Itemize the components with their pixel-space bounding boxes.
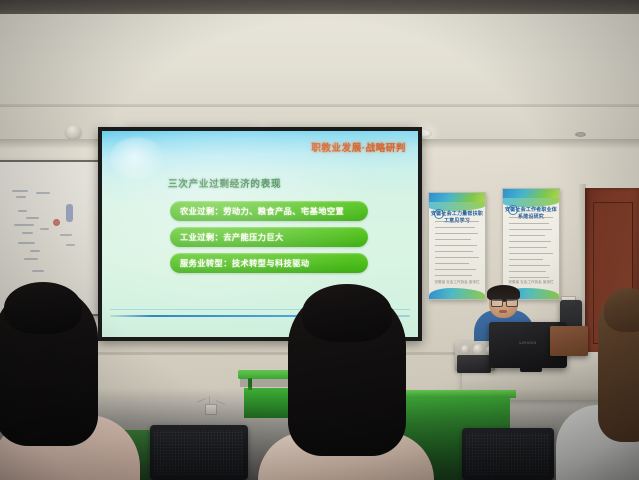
- wall-poster-right: 安徽社会工作者职业体系建设研究 安徽省 社会工作协会 宣传栏: [502, 188, 560, 300]
- equipment-knob[interactable]: [461, 345, 470, 354]
- slide-bullet-box: 工业过剩：去产能压力巨大: [170, 227, 368, 247]
- poster-footer: 安徽省 社会工作协会 宣传栏: [503, 280, 559, 285]
- smoke-detector-icon: [66, 125, 81, 139]
- wall-poster-left: 安徽社会工力量帮扶职工意见学习 安徽省 社会工作协会 宣传栏: [428, 192, 486, 300]
- slide-bullet-text: 工业过剩：去产能压力巨大: [180, 231, 284, 243]
- audience-left-head: [4, 282, 82, 334]
- slide-bullet-box: 服务业转型：技术转型与科技驱动: [170, 253, 368, 273]
- monitor-stand: [520, 366, 542, 372]
- photo-scene: 职教业发展·战略研判 三次产业过剩经济的表现 农业过剩：劳动力、粮食产品、宅基地…: [0, 0, 639, 480]
- audience-center-head: [302, 284, 392, 342]
- glasses-bridge: [502, 301, 506, 302]
- ceiling-panel: [0, 14, 639, 106]
- ceiling-beam: [0, 0, 639, 15]
- slide-watermark: [110, 137, 164, 179]
- side-cabinet: [550, 326, 588, 356]
- slide-title: 职教业发展·战略研判: [311, 140, 406, 154]
- monitor-brand-label: Lenovo: [519, 340, 536, 345]
- ceiling-vent-icon: [575, 132, 586, 137]
- presenter-mouth: [499, 310, 507, 313]
- slide-heading: 三次产业过剩经济的表现: [168, 176, 281, 190]
- poster-footer-band: [429, 288, 485, 299]
- glasses-icon: [506, 299, 518, 307]
- poster-footer: 安徽省 社会工作协会 宣传栏: [429, 280, 485, 285]
- audience-right-head: [604, 288, 639, 332]
- equipment-knob[interactable]: [473, 344, 484, 355]
- av-equipment-panel: [457, 355, 491, 373]
- slide-bullet-box: 农业过剩：劳动力、粮食产品、宅基地空置: [170, 201, 368, 221]
- slide-bullet-text: 农业过剩：劳动力、粮食产品、宅基地空置: [180, 205, 344, 217]
- slide-bullet-text: 服务业转型：技术转型与科技驱动: [180, 257, 310, 269]
